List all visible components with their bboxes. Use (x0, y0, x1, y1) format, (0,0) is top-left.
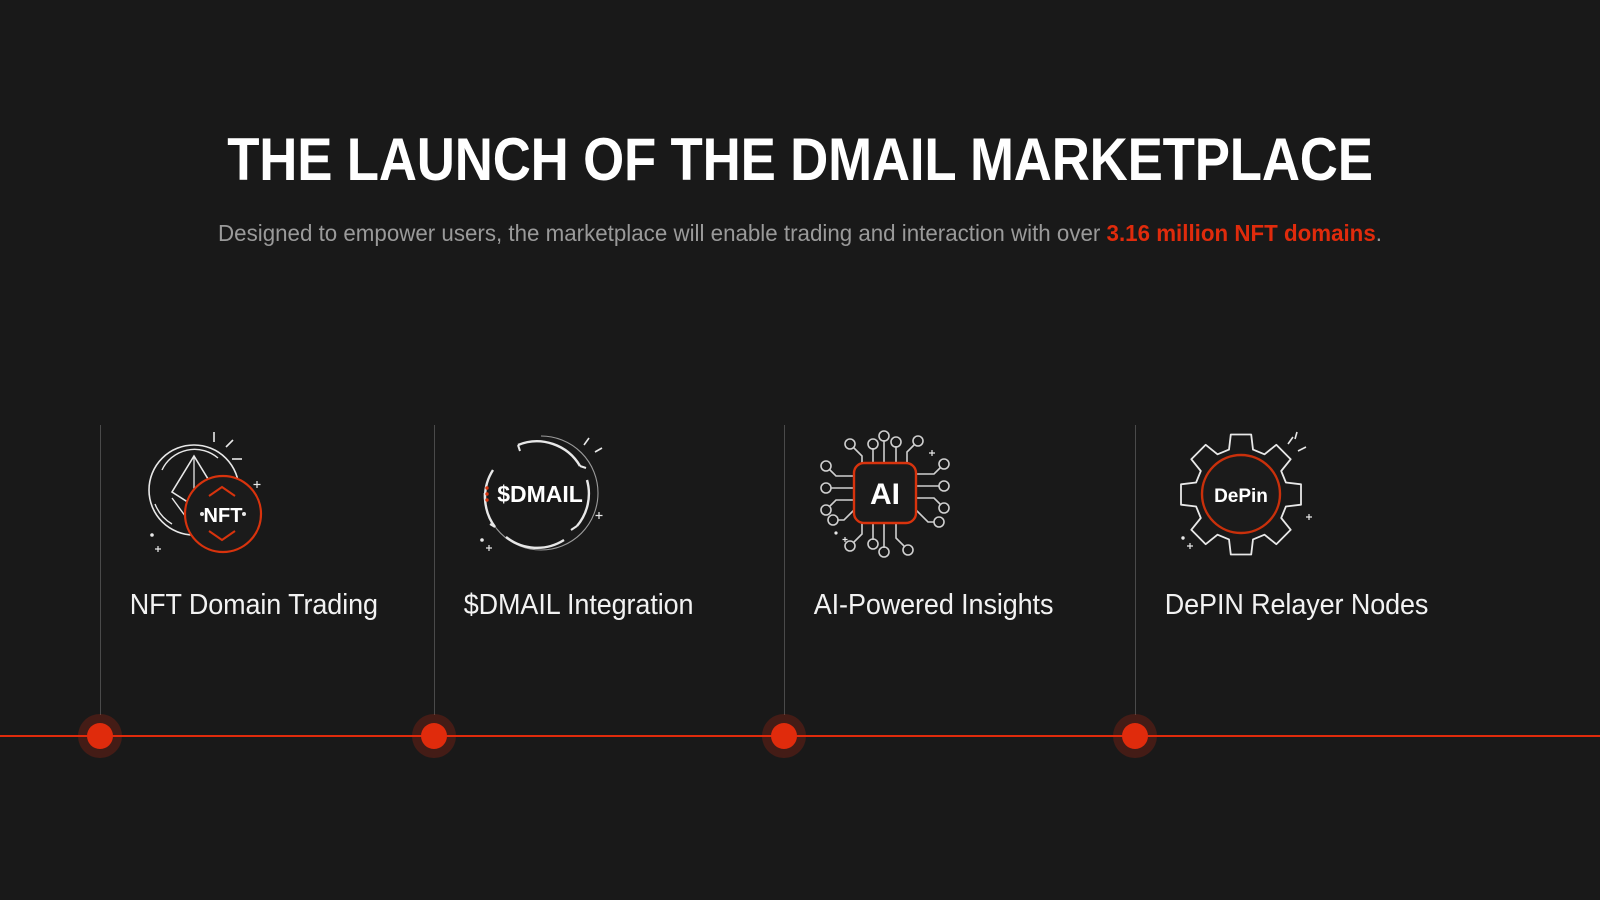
feature-label-ai-powered-insights: AI-Powered Insights (784, 586, 1091, 624)
subtitle-prefix: Designed to empower users, the marketpla… (218, 220, 1107, 246)
timeline-dot-nft-domain-trading[interactable] (78, 714, 122, 758)
timeline-dot-dmail-integration[interactable] (412, 714, 456, 758)
feature-card-ai-powered-insights[interactable]: AI AI-Powered Insights (784, 418, 1114, 624)
ai-chip-text: AI (870, 478, 900, 511)
dmail-token-ring-icon: $DMAIL (434, 418, 764, 568)
feature-label-nft-domain-trading: NFT Domain Trading (100, 586, 407, 624)
depin-inner-text: DePin (1214, 486, 1268, 507)
feature-card-dmail-integration[interactable]: $DMAIL $DMAIL Integration (434, 418, 764, 624)
feature-label-dmail-integration: $DMAIL Integration (434, 586, 741, 624)
nft-ethereum-badge-icon: NFT (100, 418, 430, 568)
timeline-dot-ai-powered-insights[interactable] (762, 714, 806, 758)
feature-card-nft-domain-trading[interactable]: NFT NFT Domain Trading (100, 418, 430, 624)
subtitle-suffix: . (1376, 220, 1382, 246)
subtitle-highlight: 3.16 million NFT domains (1107, 220, 1376, 246)
slide-canvas: THE LAUNCH OF THE DMAIL MARKETPLACE Desi… (0, 0, 1600, 900)
dmail-ring-text: $DMAIL (497, 481, 583, 507)
feature-label-depin-relayer-nodes: DePIN Relayer Nodes (1135, 586, 1442, 624)
page-title: THE LAUNCH OF THE DMAIL MARKETPLACE (96, 125, 1504, 195)
timeline-dot-depin-relayer-nodes[interactable] (1113, 714, 1157, 758)
nft-badge-text: NFT (204, 505, 243, 527)
feature-card-depin-relayer-nodes[interactable]: DePin DePIN Relayer Nodes (1135, 418, 1465, 624)
page-subtitle: Designed to empower users, the marketpla… (40, 216, 1560, 250)
depin-gear-icon: DePin (1135, 418, 1465, 568)
ai-chip-icon: AI (784, 418, 1114, 568)
